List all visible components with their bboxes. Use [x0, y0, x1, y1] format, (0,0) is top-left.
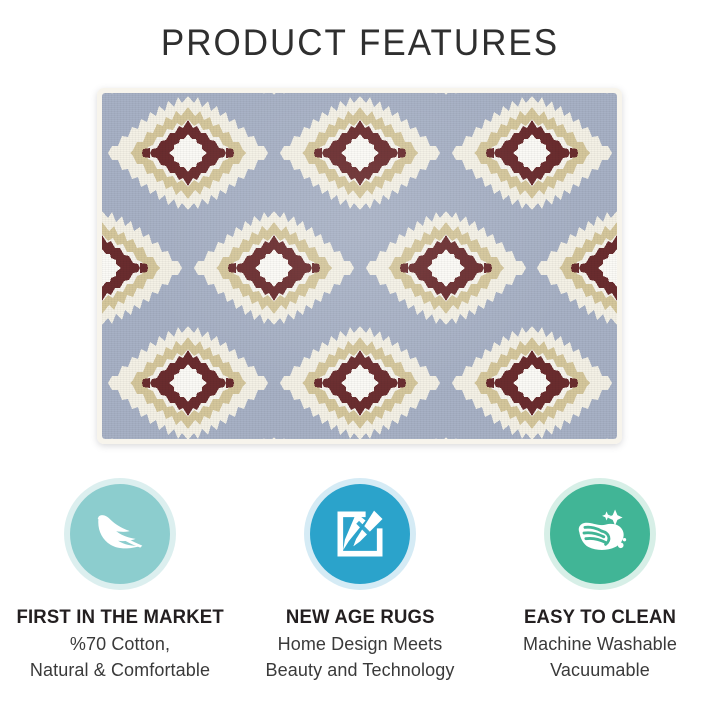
feature-badge-3 [544, 478, 656, 590]
product-image [97, 88, 622, 444]
features-row: FIRST IN THE MARKET %70 Cotton, Natural … [0, 478, 720, 681]
feature-item-first-in-the-market: FIRST IN THE MARKET %70 Cotton, Natural … [0, 478, 240, 681]
feature-badge-1 [64, 478, 176, 590]
feature-line-3b: Vacuumable [550, 660, 650, 681]
feature-line-2a: Home Design Meets [278, 634, 443, 655]
rug-pattern-canvas [102, 93, 617, 439]
feature-title-2: NEW AGE RUGS [286, 606, 435, 629]
feature-line-3a: Machine Washable [523, 634, 677, 655]
feature-title-3: EASY TO CLEAN [524, 606, 676, 629]
hand-cloth-sparkle-icon [550, 484, 650, 584]
feature-line-1a: %70 Cotton, [70, 634, 170, 655]
feature-badge-2 [304, 478, 416, 590]
feature-line-2b: Beauty and Technology [266, 660, 455, 681]
page-title: PRODUCT FEATURES [0, 22, 720, 64]
feature-line-1b: Natural & Comfortable [30, 660, 210, 681]
feature-item-new-age-rugs: NEW AGE RUGS Home Design Meets Beauty an… [240, 478, 480, 681]
feature-item-easy-to-clean: EASY TO CLEAN Machine Washable Vacuumabl… [480, 478, 720, 681]
design-frame-pen-icon [310, 484, 410, 584]
feature-title-1: FIRST IN THE MARKET [16, 606, 223, 629]
rug-border [97, 88, 622, 444]
feather-icon [70, 484, 170, 584]
